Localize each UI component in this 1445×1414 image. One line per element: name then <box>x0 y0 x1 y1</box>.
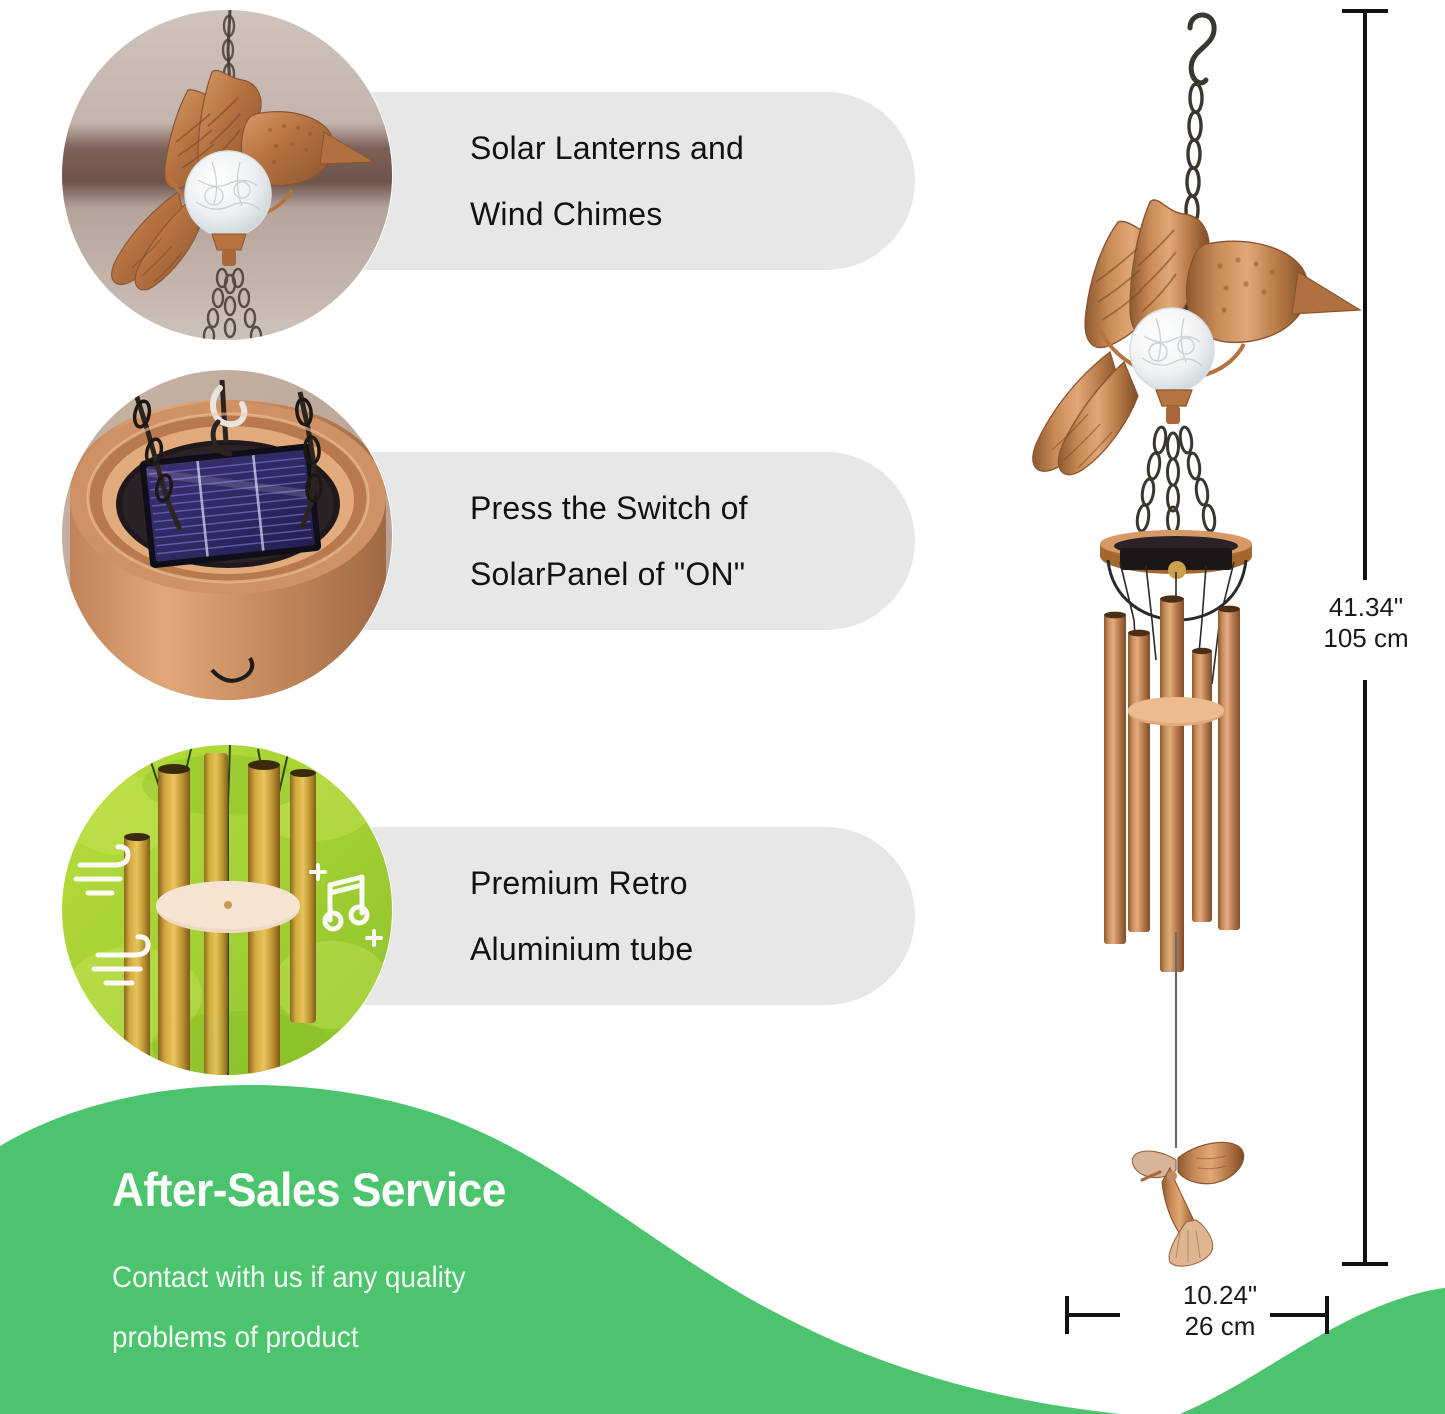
dimension-width-cm: 26 cm <box>1115 1311 1325 1342</box>
feature-row-aluminium-tube: Premium Retro Aluminium tube <box>0 743 960 1073</box>
feature-2-line-2: SolarPanel of "ON" <box>470 558 915 590</box>
banner-subtitle-line-2: problems of product <box>112 1323 707 1353</box>
feature-row-solar-lanterns: Solar Lanterns and Wind Chimes <box>0 8 960 338</box>
banner-subtitle: Contact with us if any quality problems … <box>112 1263 707 1353</box>
feature-photo-solar-panel <box>62 370 392 700</box>
banner-subtitle-line-1: Contact with us if any quality <box>112 1261 466 1294</box>
feature-1-line-1: Solar Lanterns and <box>470 132 915 164</box>
feature-3-line-1: Premium Retro <box>470 867 915 899</box>
feature-3-line-2: Aluminium tube <box>470 933 915 965</box>
feature-row-solar-panel: Press the Switch of SolarPanel of "ON" <box>0 368 960 698</box>
feature-photo-aluminium-tubes <box>62 745 392 1075</box>
feature-2-line-1: Press the Switch of <box>470 492 915 524</box>
dimension-width-inches: 10.24" <box>1115 1280 1325 1311</box>
feature-1-line-2: Wind Chimes <box>470 198 915 230</box>
dimension-height-inches: 41.34" <box>1296 592 1436 623</box>
dimension-height-label: 41.34" 105 cm <box>1296 592 1436 653</box>
banner-text-block: After-Sales Service Contact with us if a… <box>112 1162 752 1353</box>
banner-title: After-Sales Service <box>112 1162 714 1217</box>
infographic-canvas: Solar Lanterns and Wind Chimes <box>0 0 1445 1414</box>
dimension-height-cm: 105 cm <box>1296 623 1436 654</box>
product-photo-panel: 41.34" 105 cm 10.24" 26 cm <box>1000 0 1445 1414</box>
dimension-width-label: 10.24" 26 cm <box>1115 1280 1325 1341</box>
feature-photo-hummingbird-lantern <box>62 10 392 340</box>
